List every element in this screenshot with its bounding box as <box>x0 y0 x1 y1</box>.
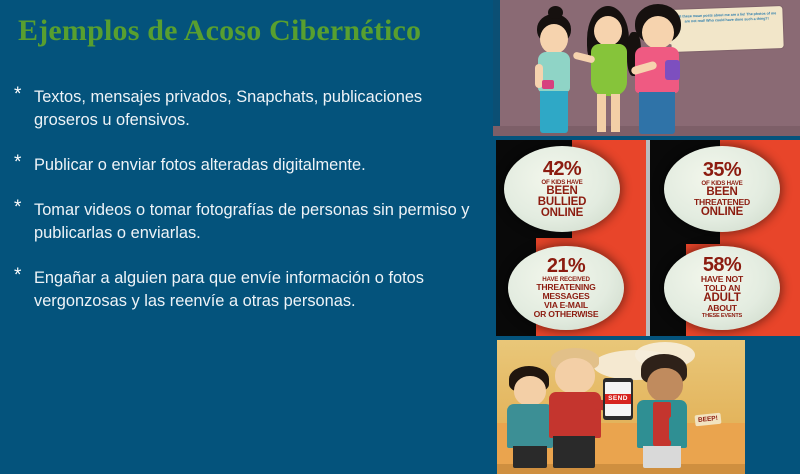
face-shape <box>555 358 595 394</box>
slide-text-column: Ejemplos de Acoso Cibernético * Textos, … <box>0 0 492 474</box>
shirt-shape <box>549 392 601 438</box>
stat-line-4: ONLINE <box>538 208 586 219</box>
tablet-screen: SEND <box>605 382 631 416</box>
stat-bubble: 35% OF KIDS HAVE BEEN THREATENED ONLINE <box>664 146 780 232</box>
bullet-list: * Textos, mensajes privados, Snapchats, … <box>14 86 484 335</box>
list-item: * Engañar a alguien para que envíe infor… <box>14 267 484 313</box>
stat-bubble-content: 21% HAVE RECEIVED THREATENING MESSAGES V… <box>530 257 603 319</box>
stat-bubble-content: 42% OF KIDS HAVE BEEN BULLIED ONLINE <box>534 160 590 219</box>
three-girls-with-phones-illustration: All these mean posts about me are a lie!… <box>493 0 800 136</box>
list-item: * Tomar videos o tomar fotografías de pe… <box>14 199 484 245</box>
bullet-star-icon: * <box>14 153 21 172</box>
list-item: * Textos, mensajes privados, Snapchats, … <box>14 86 484 132</box>
phone-device <box>542 80 554 89</box>
list-item: * Publicar o enviar fotos alteradas digi… <box>14 154 484 177</box>
stat-bubble: 21% HAVE RECEIVED THREATENING MESSAGES V… <box>508 246 624 330</box>
face-shape <box>594 16 622 46</box>
stat-bubble: 42% OF KIDS HAVE BEEN BULLIED ONLINE <box>504 146 620 232</box>
stats-panel-left: 42% OF KIDS HAVE BEEN BULLIED ONLINE 21%… <box>496 140 650 336</box>
arm-shape <box>669 416 681 442</box>
pants-shape <box>540 91 568 133</box>
image-left-border <box>493 0 500 136</box>
phone-device <box>665 60 680 80</box>
legs-shape <box>553 436 595 468</box>
stat-bubble: 58% HAVE NOT TOLD AN ADULT ABOUT THESE E… <box>664 246 780 330</box>
stat-percent: 21% <box>534 257 599 276</box>
stat-bubble-content: 35% OF KIDS HAVE BEEN THREATENED ONLINE <box>690 161 754 218</box>
cyberbullying-statistics-infographic: 42% OF KIDS HAVE BEEN BULLIED ONLINE 21%… <box>496 140 800 336</box>
girl-front-figure <box>623 2 699 134</box>
stat-percent: 58% <box>701 256 743 275</box>
stat-line-5: THESE EVENTS <box>701 313 743 320</box>
stat-line-2: BEEN <box>694 187 750 198</box>
bullet-text: Engañar a alguien para que envíe informa… <box>34 267 484 313</box>
leg-shape <box>611 94 620 132</box>
stat-percent: 42% <box>538 160 586 179</box>
legs-shape <box>643 446 681 468</box>
stat-line-4: ABOUT <box>701 304 743 313</box>
hair-bun-shape <box>548 6 563 19</box>
dress-shape <box>591 44 627 96</box>
send-button-label: SEND <box>605 394 631 404</box>
stat-bubble-content: 58% HAVE NOT TOLD AN ADULT ABOUT THESE E… <box>697 256 747 320</box>
boys-bullying-with-tablet-illustration: SEND BEEP! <box>497 340 745 474</box>
face-shape <box>642 16 674 49</box>
face-shape <box>540 24 568 54</box>
leg-shape <box>597 94 606 132</box>
bullet-star-icon: * <box>14 198 21 217</box>
slide-canvas: Ejemplos de Acoso Cibernético * Textos, … <box>0 0 800 474</box>
bullet-star-icon: * <box>14 85 21 104</box>
bullet-text: Publicar o enviar fotos alteradas digita… <box>34 154 484 177</box>
page-title: Ejemplos de Acoso Cibernético <box>18 14 478 48</box>
stats-panel-right: 35% OF KIDS HAVE BEEN THREATENED ONLINE … <box>650 140 800 336</box>
bullet-star-icon: * <box>14 266 21 285</box>
tablet-device: SEND <box>603 378 633 420</box>
face-shape <box>647 368 683 402</box>
stat-line-2: BEEN <box>538 186 586 197</box>
stat-line-4: ONLINE <box>694 207 750 218</box>
bullet-text: Tomar videos o tomar fotografías de pers… <box>34 199 484 245</box>
girl-left-figure <box>523 12 585 134</box>
boy-victim-figure <box>629 354 701 468</box>
stat-percent: 35% <box>694 161 750 180</box>
stat-line-3: BULLIED <box>538 197 586 208</box>
stat-line-5: OR OTHERWISE <box>534 310 599 319</box>
pants-shape <box>639 92 675 134</box>
bullet-text: Textos, mensajes privados, Snapchats, pu… <box>34 86 484 132</box>
